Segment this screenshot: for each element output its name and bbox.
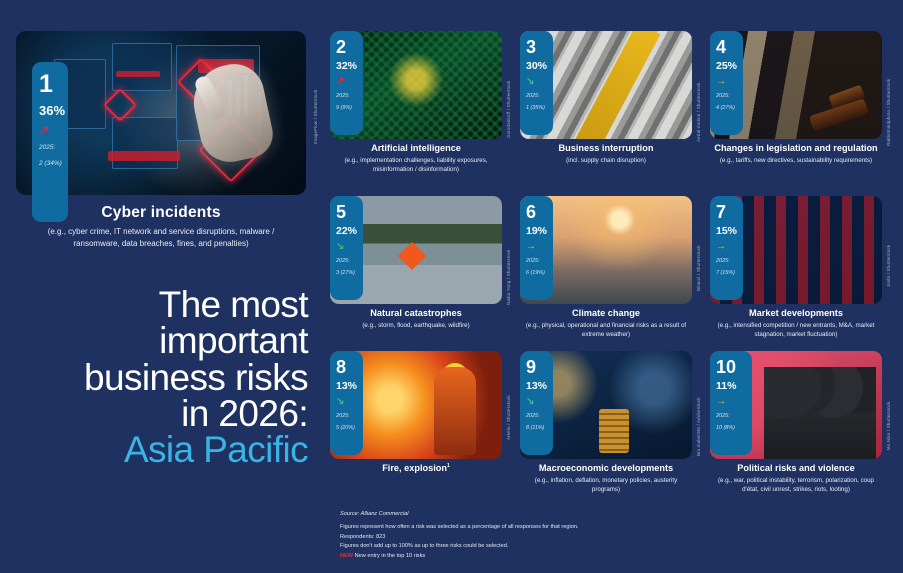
rank-badge-10[interactable]: 10 11% → 2025: 10 (8%) xyxy=(710,351,752,455)
trend-flat-icon: → xyxy=(716,77,743,87)
rank-percent: 13% xyxy=(526,381,553,392)
card-subtitle: (incl. supply chain disruption) xyxy=(522,157,690,166)
card-title: Macroeconomic developments xyxy=(520,463,692,475)
rank-badge-3[interactable]: 3 30% ↘ 2025: 1 (35%) xyxy=(520,31,553,135)
prev-year-value: 9 (9%) xyxy=(336,105,363,111)
prev-year-label: 2025: xyxy=(39,144,68,152)
footer-notes: Source: Allianz Commercial Figures repre… xyxy=(340,510,880,573)
card-title: Changes in legislation and regulation xyxy=(710,143,882,155)
photo-credit: Bilanol / Shutterstock xyxy=(696,229,701,291)
prev-year-value: 1 (35%) xyxy=(526,105,553,111)
trend-up-icon: ↗ xyxy=(39,124,68,136)
rank-badge-8[interactable]: 8 13% ↘ 2025: 5 (20%) xyxy=(330,351,363,455)
prev-year-label: 2025: xyxy=(526,93,553,99)
alert-bar xyxy=(108,151,180,161)
card-title: Market developments xyxy=(710,308,882,320)
rank-number: 4 xyxy=(716,38,743,56)
photo-credit: Nadia Yong / Shutterstock xyxy=(506,229,511,305)
page-title: The most important business risks in 202… xyxy=(6,287,308,468)
rank-badge-9[interactable]: 9 13% ↘ 2025: 8 (11%) xyxy=(520,351,553,455)
coin-stack-icon xyxy=(599,409,629,453)
card-subtitle: (e.g., tariffs, new directives, sustaina… xyxy=(712,157,880,166)
prev-year-value: 5 (20%) xyxy=(336,425,363,431)
riot-figures xyxy=(764,367,876,459)
prev-year-value: 2 (34%) xyxy=(39,160,68,168)
helmet-icon xyxy=(442,363,468,381)
rank-number: 8 xyxy=(336,358,363,376)
rank-number: 5 xyxy=(336,203,363,221)
photo-credit: Bro.makerSM / AdobeStock xyxy=(696,384,701,456)
photo-credit: ImageFlow / Shutterstock xyxy=(313,64,318,144)
trend-down-icon: ↘ xyxy=(336,242,363,252)
risk-card-grid: 2 32% ↗ 2025: 9 (9%) Gorodenkoff / Shutt… xyxy=(330,0,903,573)
rank-percent: 19% xyxy=(526,226,553,237)
headline-line-2: important xyxy=(159,320,308,361)
prev-year-value: 3 (27%) xyxy=(336,270,363,276)
rank-number: 10 xyxy=(716,358,752,376)
prev-year-label: 2025: xyxy=(526,413,553,419)
footnote-marker: 1 xyxy=(447,463,450,469)
trend-down-icon: ↘ xyxy=(336,397,363,407)
card-title: Climate change xyxy=(520,308,692,320)
photo-credit: Mo.Niko / Shutterstock xyxy=(886,384,891,450)
rank-percent: 22% xyxy=(336,226,363,237)
rank-number: 6 xyxy=(526,203,553,221)
card-title-text: Fire, explosion xyxy=(382,463,447,473)
rank-percent: 13% xyxy=(336,381,363,392)
hero-card-cyber-incidents[interactable]: 1 36% ↗ 2025: 2 (34%) ImageFlow / Shutte… xyxy=(16,31,306,195)
photo-credit: Aerial-motion / Shutterstock xyxy=(696,64,701,142)
trend-flat-icon: → xyxy=(716,397,752,407)
alert-bar xyxy=(116,71,160,77)
rank-badge-7[interactable]: 7 15% → 2025: 7 (15%) xyxy=(710,196,743,300)
rank-badge-4[interactable]: 4 25% → 2025: 4 (27%) xyxy=(710,31,743,135)
ui-panel xyxy=(112,117,178,169)
card-subtitle: (e.g., storm, flood, earthquake, wildfir… xyxy=(332,322,500,331)
card-subtitle: (e.g., inflation, deflation, monetary po… xyxy=(522,477,690,495)
rank-percent: 15% xyxy=(716,226,743,237)
card-subtitle: (e.g., implementation challenges, liabil… xyxy=(332,157,500,175)
prev-year-label: 2025: xyxy=(336,413,363,419)
prev-year-label: 2025: xyxy=(716,93,743,99)
photo-credit: Rabbitmindphoto / Shutterstock xyxy=(886,64,891,146)
source-line: Source: Allianz Commercial xyxy=(340,510,880,520)
card-title: Business interruption xyxy=(520,143,692,155)
card-title: Fire, explosion1 xyxy=(330,463,502,475)
rank-percent: 36% xyxy=(39,104,68,117)
new-badge-label: NEW xyxy=(340,553,353,559)
prev-year-value: 10 (8%) xyxy=(716,425,752,431)
card-subtitle: (e.g., intensified competition / new ent… xyxy=(712,322,880,340)
trend-flat-icon: → xyxy=(716,242,743,252)
gavel-icon xyxy=(828,85,865,111)
rank-number: 2 xyxy=(336,38,363,56)
rank-percent: 32% xyxy=(336,61,363,72)
photo-credit: Arkela / Shutterstock xyxy=(506,384,511,440)
ui-panel xyxy=(112,43,172,91)
prev-year-value: 6 (19%) xyxy=(526,270,553,276)
rank-badge-6[interactable]: 6 19% → 2025: 6 (19%) xyxy=(520,196,553,300)
prev-year-label: 2025: xyxy=(716,258,743,264)
photo-credit: Gorodenkoff / Shutterstock xyxy=(506,64,511,138)
rank-number: 1 xyxy=(39,72,68,97)
footer-note-4-row: NEW New entry in the top 10 risks xyxy=(340,552,880,562)
rank-percent: 11% xyxy=(716,381,752,392)
prev-year-label: 2025: xyxy=(716,413,752,419)
rank-badge-1[interactable]: 1 36% ↗ 2025: 2 (34%) xyxy=(32,62,68,222)
rank-number: 7 xyxy=(716,203,743,221)
photo-credit: Joshi / Shutterstock xyxy=(886,229,891,287)
footer-note-1: Figures represent how often a risk was s… xyxy=(340,523,880,533)
prev-year-value: 4 (27%) xyxy=(716,105,743,111)
rank-percent: 25% xyxy=(716,61,743,72)
prev-year-value: 7 (15%) xyxy=(716,270,743,276)
card-subtitle: (e.g., war, political instability, terro… xyxy=(712,477,880,495)
card-title: Political risks and violence xyxy=(710,463,882,475)
left-column: 1 36% ↗ 2025: 2 (34%) ImageFlow / Shutte… xyxy=(0,0,320,573)
prev-year-label: 2025: xyxy=(336,258,363,264)
headline-line-3: business risks xyxy=(84,357,308,398)
card-title: Natural catastrophes xyxy=(330,308,502,320)
card-subtitle: (e.g., physical, operational and financi… xyxy=(522,322,690,340)
prev-year-value: 8 (11%) xyxy=(526,425,553,431)
rank-number: 9 xyxy=(526,358,553,376)
prev-year-label: 2025: xyxy=(336,93,363,99)
trend-down-icon: ↘ xyxy=(526,77,553,87)
footer-note-4: New entry in the top 10 risks xyxy=(355,553,426,559)
hero-subtitle: (e.g., cyber crime, IT network and servi… xyxy=(26,226,296,249)
rank-badge-2[interactable]: 2 32% ↗ 2025: 9 (9%) xyxy=(330,31,363,135)
headline-region: Asia Pacific xyxy=(6,432,308,468)
footer-note-2: Respondents: 823 xyxy=(340,533,880,543)
rank-badge-5[interactable]: 5 22% ↘ 2025: 3 (27%) xyxy=(330,196,363,300)
trend-flat-icon: → xyxy=(526,242,553,252)
prev-year-label: 2025: xyxy=(526,258,553,264)
trend-up-icon: ↗ xyxy=(336,77,363,87)
trend-down-icon: ↘ xyxy=(526,397,553,407)
headline-line-1: The most xyxy=(159,284,308,325)
card-title: Artificial intelligence xyxy=(330,143,502,155)
rank-percent: 30% xyxy=(526,61,553,72)
footer-note-3: Figures don't add up to 100% as up to th… xyxy=(340,542,880,552)
rank-number: 3 xyxy=(526,38,553,56)
headline-line-4: in 2026: xyxy=(181,393,308,434)
